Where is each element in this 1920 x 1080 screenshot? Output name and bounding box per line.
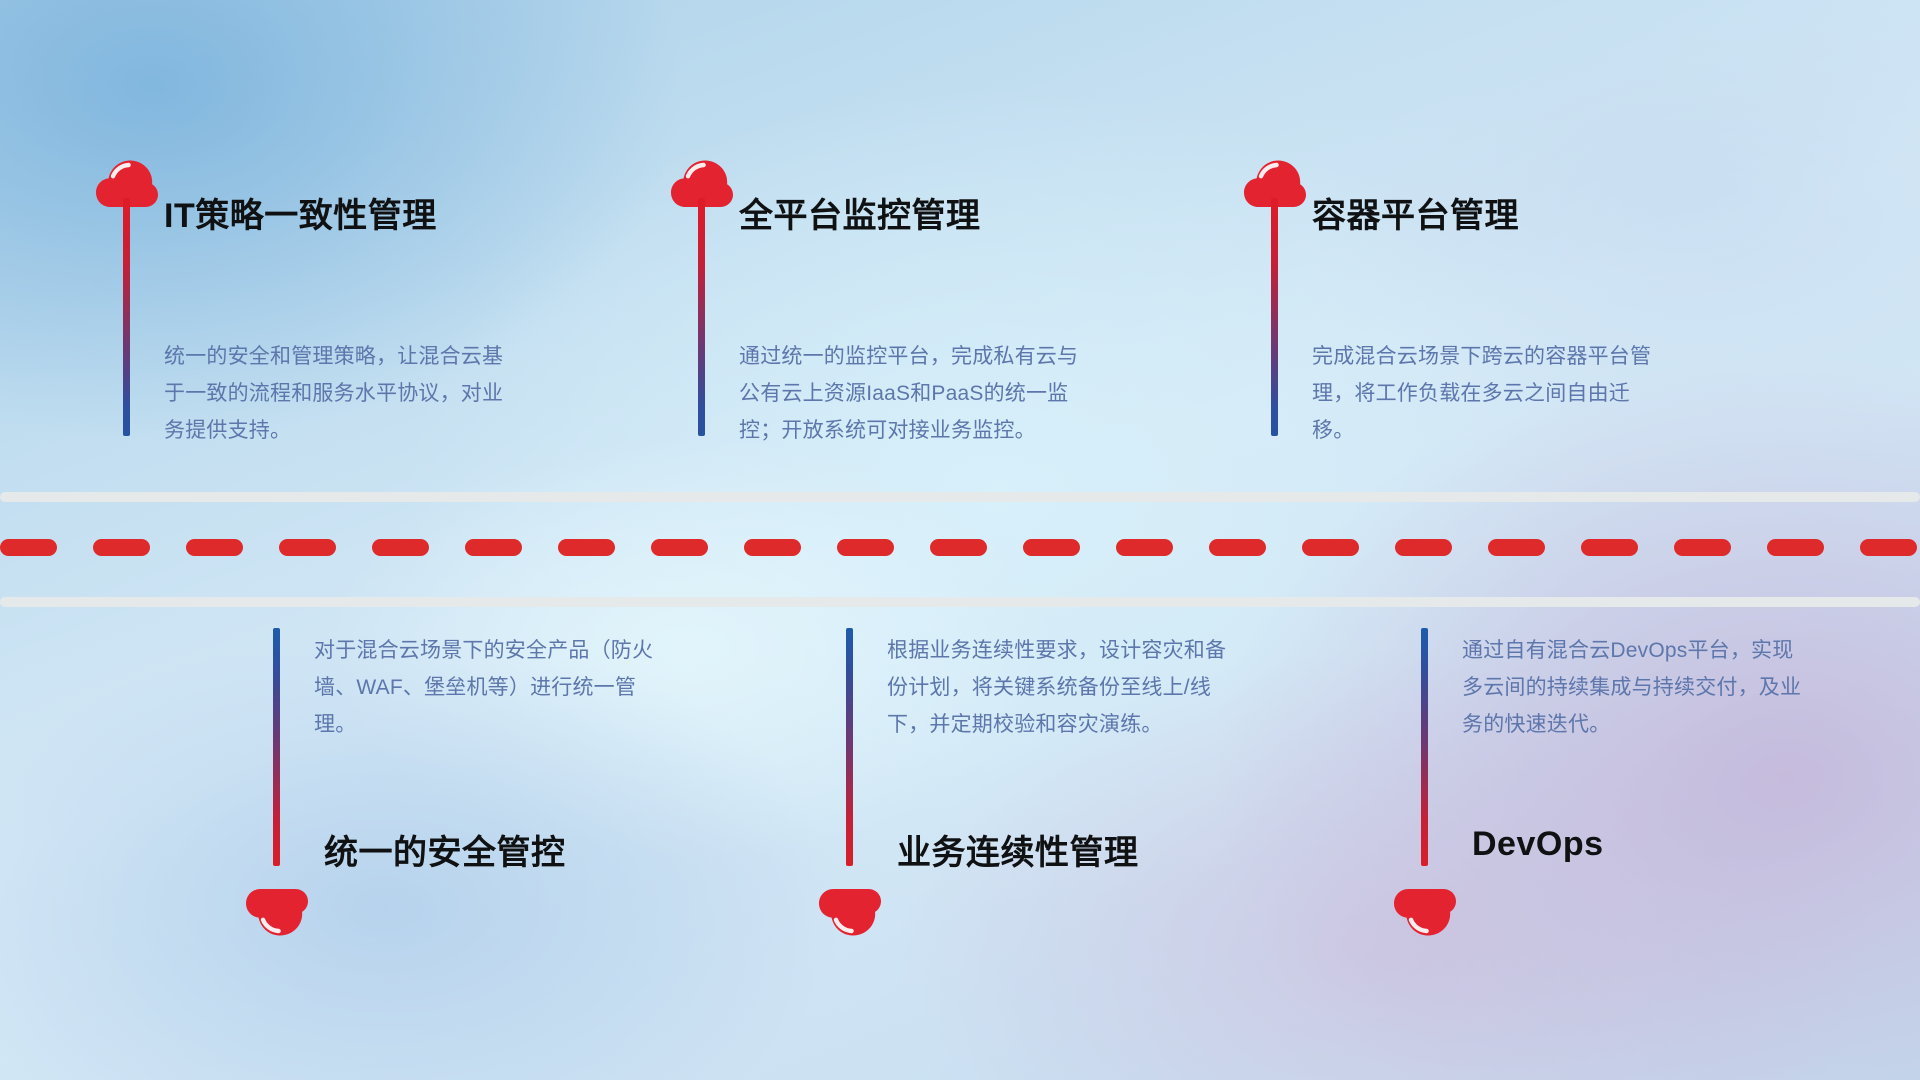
road-dash-segment (0, 539, 57, 556)
card-title: 统一的安全管控 (324, 825, 566, 874)
road-dash-segment (930, 539, 987, 556)
card-title: 全平台监控管理 (739, 188, 981, 237)
card-title: 业务连续性管理 (897, 825, 1139, 874)
road-dash-segment (1023, 539, 1080, 556)
road-dash-segment (558, 539, 615, 556)
connector-stem (273, 628, 280, 866)
road-dash-segment (744, 539, 801, 556)
road-dash-segment (279, 539, 336, 556)
road-dash-segment (1581, 539, 1638, 556)
road-dash-segment (1674, 539, 1731, 556)
card-body: 对于混合云场景下的安全产品（防火墙、WAF、堡垒机等）进行统一管理。 (314, 632, 664, 743)
cloud-icon (246, 888, 308, 936)
card-title: IT策略一致性管理 (164, 188, 437, 237)
cloud-icon (819, 888, 881, 936)
connector-stem (123, 198, 130, 436)
road-dash-segment (372, 539, 429, 556)
card-body: 通过统一的监控平台，完成私有云与公有云上资源IaaS和PaaS的统一监控；开放系… (739, 338, 1089, 449)
road-dash-segment (1116, 539, 1173, 556)
road-dash-segment (1488, 539, 1545, 556)
cloud-icon (1394, 888, 1456, 936)
connector-stem (1271, 198, 1278, 436)
road-dash-segment (837, 539, 894, 556)
road-dash-segment (465, 539, 522, 556)
connector-stem (698, 198, 705, 436)
card-title: DevOps (1472, 825, 1604, 864)
connector-stem (846, 628, 853, 866)
card-body: 统一的安全和管理策略，让混合云基于一致的流程和服务水平协议，对业务提供支持。 (164, 338, 514, 449)
road-dash-segment (651, 539, 708, 556)
connector-stem (1421, 628, 1428, 866)
road-dash-segment (1860, 539, 1917, 556)
road-edge-bottom (0, 597, 1920, 607)
road-center-dashes (0, 538, 1920, 556)
road-dash-segment (93, 539, 150, 556)
card-body: 通过自有混合云DevOps平台，实现多云间的持续集成与持续交付，及业务的快速迭代… (1462, 632, 1812, 743)
road-dash-segment (1395, 539, 1452, 556)
road-dash-segment (1767, 539, 1824, 556)
infographic-canvas: IT策略一致性管理 统一的安全和管理策略，让混合云基于一致的流程和服务水平协议，… (0, 0, 1920, 1080)
road-dash-segment (186, 539, 243, 556)
card-body: 完成混合云场景下跨云的容器平台管理，将工作负载在多云之间自由迁移。 (1312, 338, 1662, 449)
road-dash-segment (1302, 539, 1359, 556)
card-title: 容器平台管理 (1312, 188, 1519, 237)
card-body: 根据业务连续性要求，设计容灾和备份计划，将关键系统备份至线上/线下，并定期校验和… (887, 632, 1237, 743)
road-dash-segment (1209, 539, 1266, 556)
road-edge-top (0, 492, 1920, 502)
